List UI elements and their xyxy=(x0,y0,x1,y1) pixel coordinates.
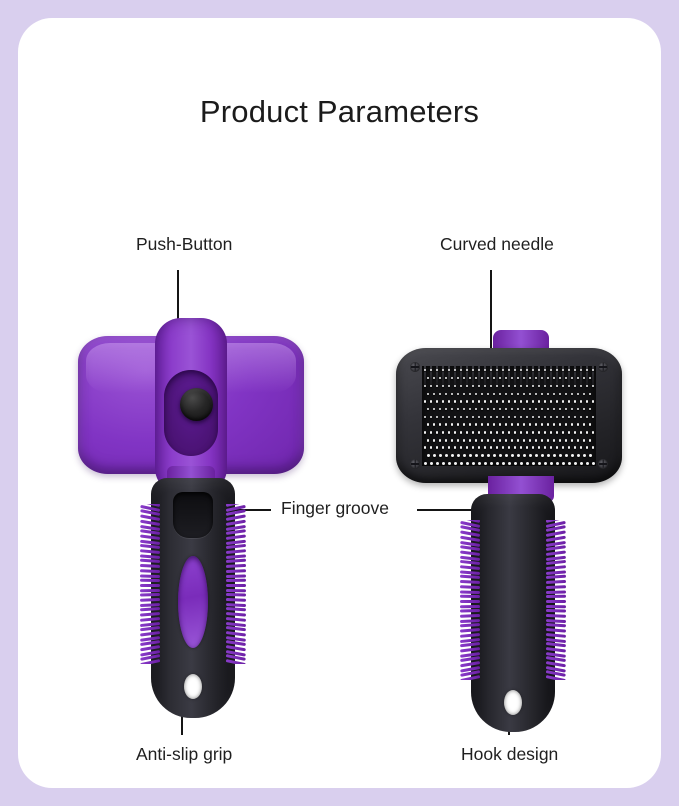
callout-label-curved-needle: Curved needle xyxy=(440,234,554,255)
callout-label-push-button: Push-Button xyxy=(136,234,232,255)
page-title: Product Parameters xyxy=(18,94,661,130)
curved-needle-field xyxy=(422,366,596,466)
anti-slip-grip-right-left-side xyxy=(460,520,480,680)
screw-icon-top-right xyxy=(598,362,608,372)
screw-icon-bottom-right xyxy=(598,459,608,469)
anti-slip-grip-right-side xyxy=(226,504,246,664)
product-image-back-view xyxy=(58,318,328,708)
infographic-card: Product Parameters Push-Button Curved ne… xyxy=(18,18,661,788)
push-button-icon[interactable] xyxy=(180,388,213,421)
finger-groove-slot xyxy=(173,492,213,538)
anti-slip-grip-left-side xyxy=(140,504,160,664)
handle-oval-inset xyxy=(178,556,208,648)
brush-head-pins xyxy=(396,348,622,483)
product-image-pin-view xyxy=(388,318,658,708)
callout-label-hook-design: Hook design xyxy=(461,744,558,765)
hanging-hole-left xyxy=(184,674,202,699)
anti-slip-grip-right-right-side xyxy=(546,520,566,680)
hanging-hole-right xyxy=(504,690,522,715)
screw-icon-bottom-left xyxy=(410,459,420,469)
callout-label-anti-slip-grip: Anti-slip grip xyxy=(136,744,232,765)
screw-icon-top-left xyxy=(410,362,420,372)
